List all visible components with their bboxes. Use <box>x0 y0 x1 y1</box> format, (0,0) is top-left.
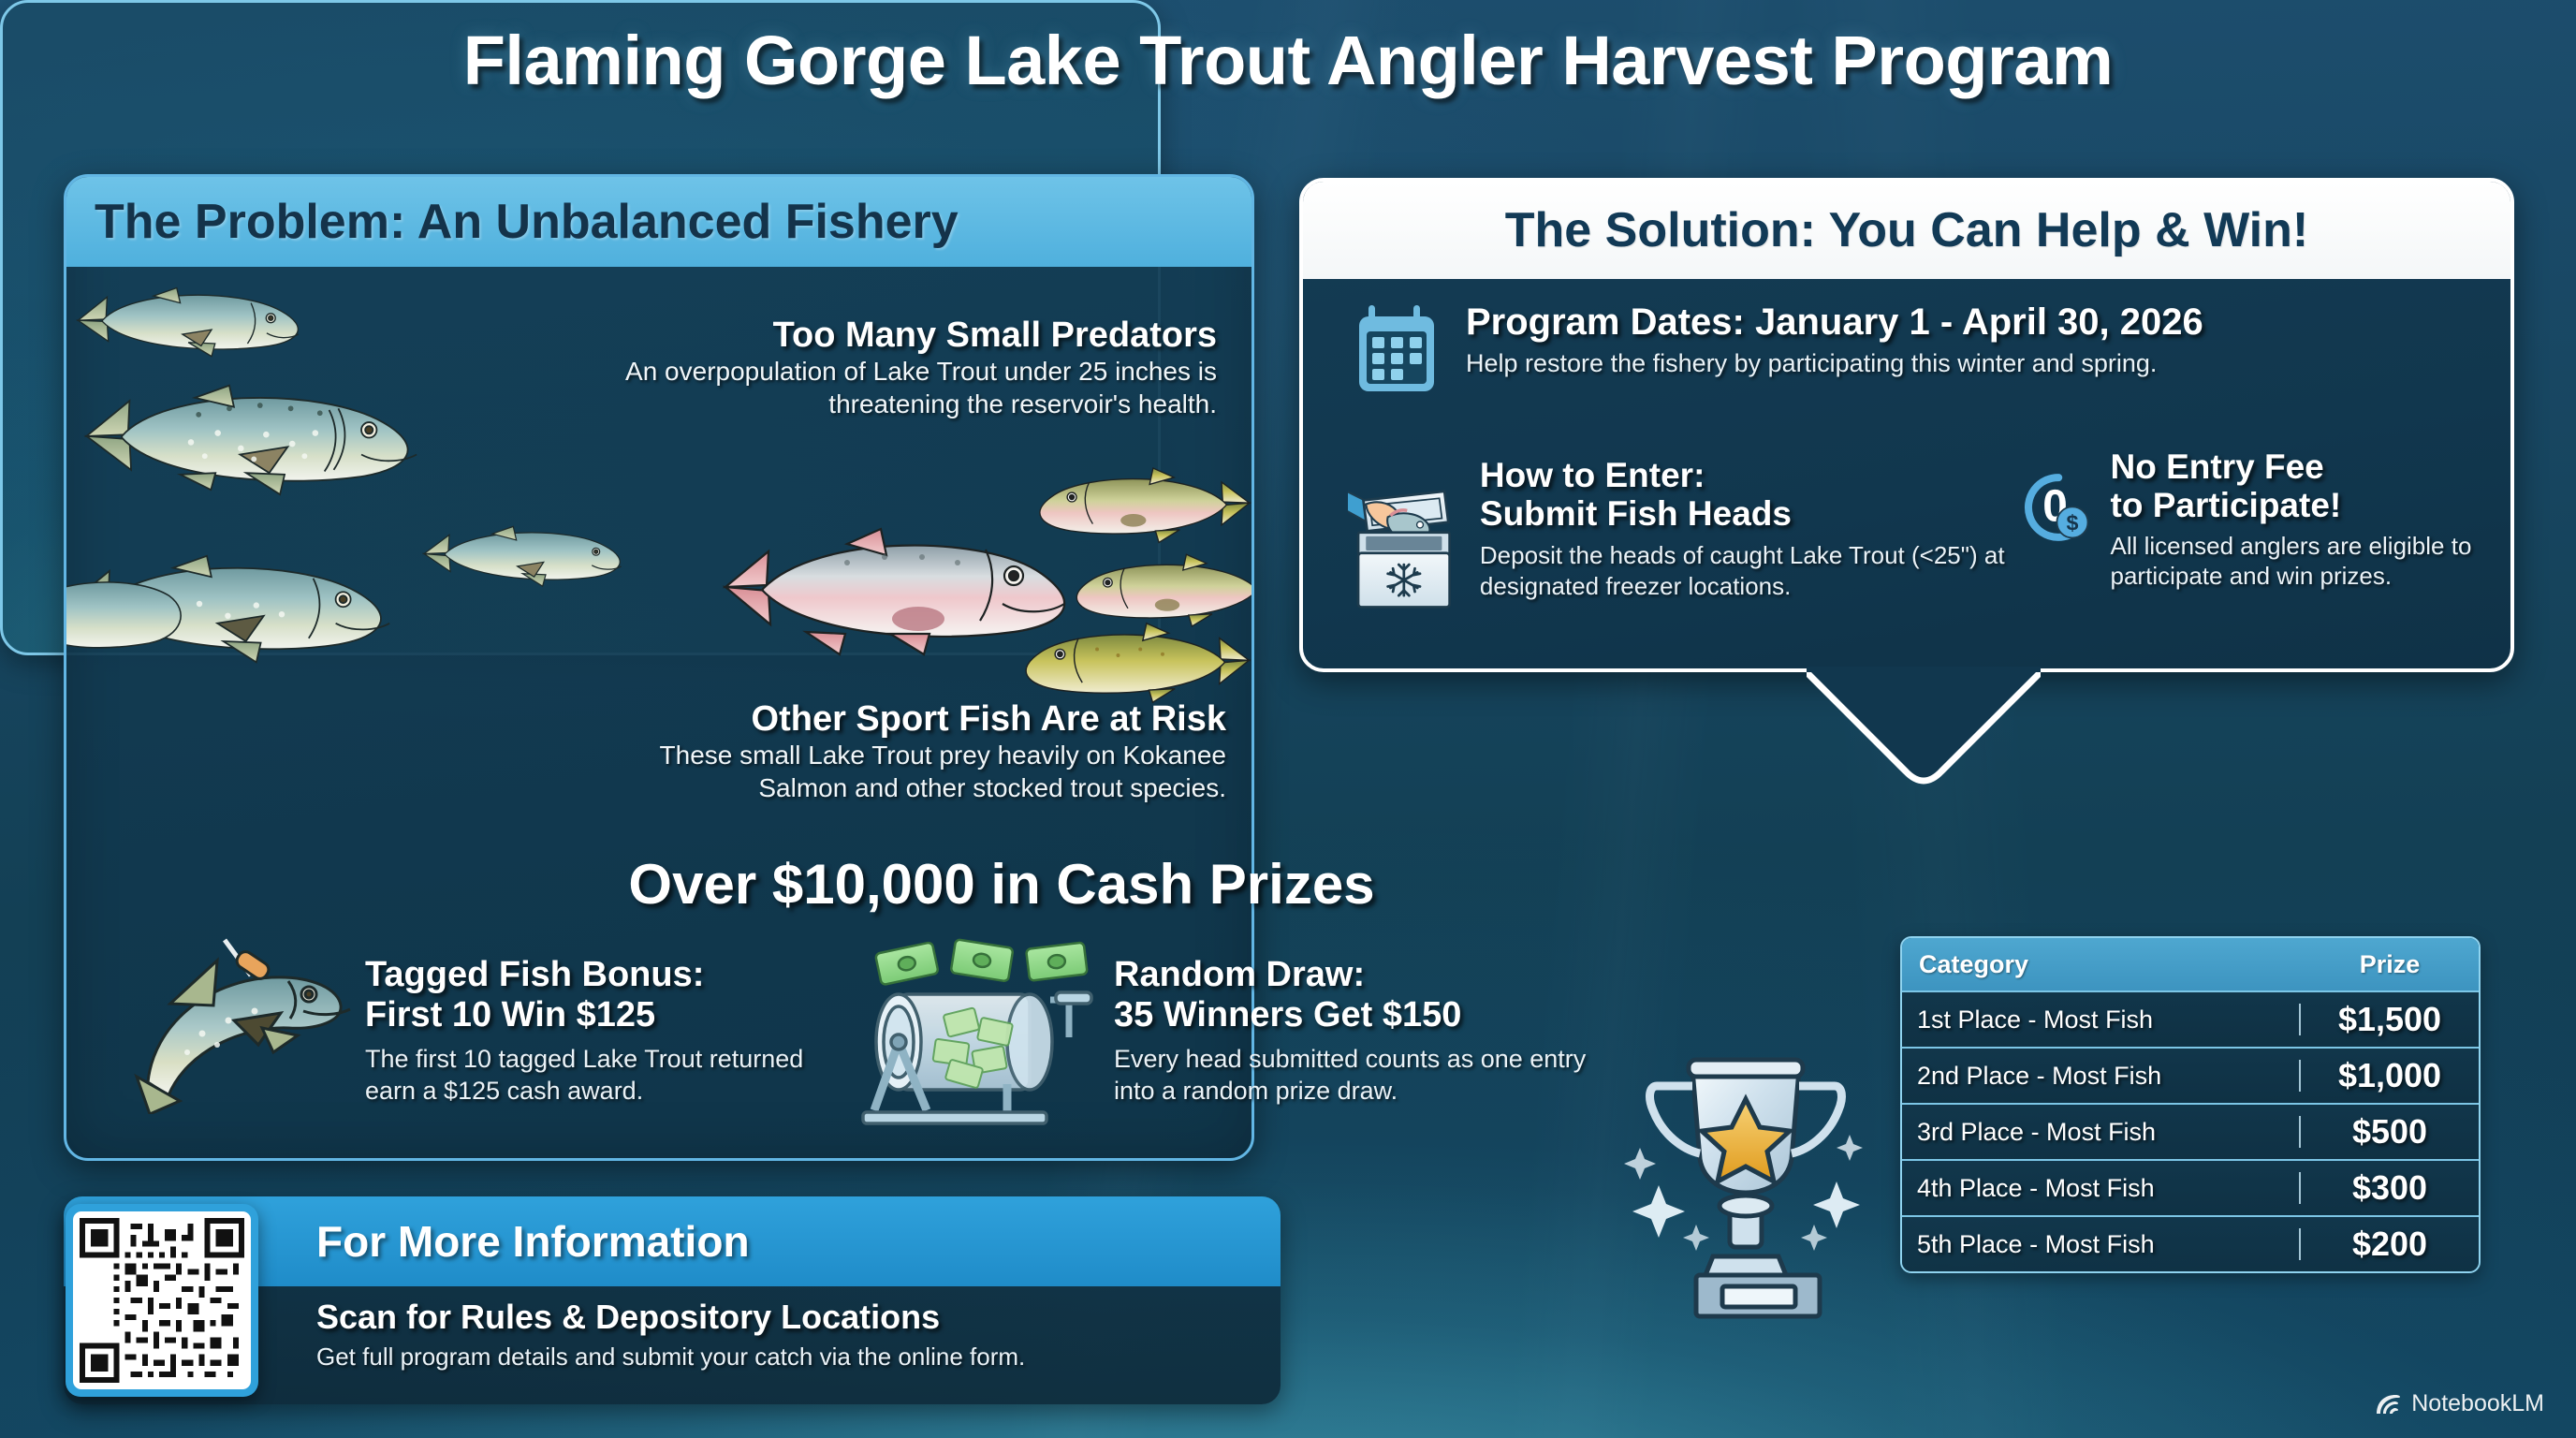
prize-row-category: 1st Place - Most Fish <box>1902 1005 2299 1034</box>
prize-row-amount: $1,000 <box>2301 1056 2479 1095</box>
freezer-fish-drop-icon <box>1348 457 1457 644</box>
page-title: Flaming Gorge Lake Trout Angler Harvest … <box>0 21 2576 100</box>
more-information-text: Get full program details and submit your… <box>316 1343 1281 1372</box>
prize-table-header-row: Category Prize <box>1902 938 2479 990</box>
notebooklm-logo-icon <box>2374 1392 2402 1416</box>
table-row: 3rd Place - Most Fish $500 <box>1902 1103 2479 1159</box>
prize-row-amount: $1,500 <box>2301 1000 2479 1039</box>
problem-block-sportfish: Other Sport Fish Are at Risk These small… <box>571 700 1226 804</box>
random-draw-heading-line1: Random Draw: <box>1114 955 1619 995</box>
prize-row-amount: $200 <box>2301 1225 2479 1264</box>
table-row: 2nd Place - Most Fish $1,000 <box>1902 1047 2479 1103</box>
qr-code-container[interactable] <box>66 1204 258 1397</box>
random-draw-block: Random Draw: 35 Winners Get $150 Every h… <box>1114 955 1619 1107</box>
problem-panel-header-label: The Problem: An Unbalanced Fishery <box>95 194 959 250</box>
no-fee-heading-line2: to Participate! <box>2111 486 2509 524</box>
solution-dates-body: Help restore the fishery by participatin… <box>1466 349 2203 378</box>
random-draw-body: Every head submitted counts as one entry… <box>1114 1044 1619 1107</box>
problem-block-predators-body: An overpopulation of Lake Trout under 25… <box>599 356 1217 420</box>
solution-panel-header-label: The Solution: You Can Help & Win! <box>1505 202 2308 258</box>
lottery-drum-icon <box>842 927 1123 1142</box>
problem-block-predators: Too Many Small Predators An overpopulati… <box>599 316 1217 420</box>
infographic-poster: Flaming Gorge Lake Trout Angler Harvest … <box>0 0 2576 1438</box>
qr-code-icon[interactable] <box>73 1211 251 1389</box>
table-row: 5th Place - Most Fish $200 <box>1902 1215 2479 1271</box>
table-row: 4th Place - Most Fish $300 <box>1902 1159 2479 1215</box>
table-row: 1st Place - Most Fish $1,500 <box>1902 990 2479 1047</box>
solution-panel-header: The Solution: You Can Help & Win! <box>1303 182 2510 279</box>
solution-no-fee-block: 0 $ No Entry Fee to Participate! All lic… <box>2022 448 2509 591</box>
notebooklm-watermark: NotebookLM <box>2374 1390 2544 1417</box>
no-fee-heading-line1: No Entry Fee <box>2111 448 2509 486</box>
prize-table-col-category: Category <box>1902 950 2301 979</box>
tagged-bonus-body: The first 10 tagged Lake Trout returned … <box>365 1044 852 1107</box>
solution-bubble-pointer <box>1807 667 2041 786</box>
prize-row-amount: $300 <box>2301 1168 2479 1208</box>
random-draw-heading-line2: 35 Winners Get $150 <box>1114 995 1619 1035</box>
calendar-icon <box>1355 301 1442 395</box>
tagged-bonus-heading-line1: Tagged Fish Bonus: <box>365 955 852 995</box>
problem-block-predators-heading: Too Many Small Predators <box>599 316 1217 356</box>
no-fee-body: All licensed anglers are eligible to par… <box>2111 531 2509 591</box>
tagged-fish-bonus-block: Tagged Fish Bonus: First 10 Win $125 The… <box>365 955 852 1107</box>
prize-row-amount: $500 <box>2301 1112 2479 1152</box>
zero-dollar-icon: 0 $ <box>2022 448 2096 567</box>
prize-table: Category Prize 1st Place - Most Fish $1,… <box>1900 936 2481 1273</box>
problem-block-sportfish-heading: Other Sport Fish Are at Risk <box>571 700 1226 740</box>
problem-panel-header: The Problem: An Unbalanced Fishery <box>66 177 1251 267</box>
more-information-heading: Scan for Rules & Depository Locations <box>316 1298 1281 1337</box>
solution-how-to-enter-block: How to Enter: Submit Fish Heads Deposit … <box>1348 457 2059 644</box>
prize-row-category: 4th Place - Most Fish <box>1902 1174 2299 1203</box>
how-to-enter-heading-line2: Submit Fish Heads <box>1480 495 2059 534</box>
problem-block-sportfish-body: These small Lake Trout prey heavily on K… <box>571 740 1226 804</box>
more-information-header-label: For More Information <box>316 1216 750 1267</box>
prize-table-col-prize: Prize <box>2301 950 2479 979</box>
trophy-icon <box>1591 1011 1900 1320</box>
how-to-enter-body: Deposit the heads of caught Lake Trout (… <box>1480 540 2059 601</box>
svg-text:$: $ <box>2066 511 2078 536</box>
how-to-enter-heading-line1: How to Enter: <box>1480 457 2059 495</box>
tagged-bonus-heading-line2: First 10 Win $125 <box>365 995 852 1035</box>
prize-row-category: 5th Place - Most Fish <box>1902 1230 2299 1259</box>
solution-dates-block: Program Dates: January 1 - April 30, 202… <box>1355 301 2479 395</box>
prize-row-category: 3rd Place - Most Fish <box>1902 1118 2299 1147</box>
tagged-fish-icon <box>131 936 365 1114</box>
solution-dates-heading: Program Dates: January 1 - April 30, 202… <box>1466 301 2203 344</box>
prize-row-category: 2nd Place - Most Fish <box>1902 1062 2299 1091</box>
notebooklm-watermark-label: NotebookLM <box>2411 1390 2544 1417</box>
prizes-heading: Over $10,000 in Cash Prizes <box>337 852 1666 917</box>
